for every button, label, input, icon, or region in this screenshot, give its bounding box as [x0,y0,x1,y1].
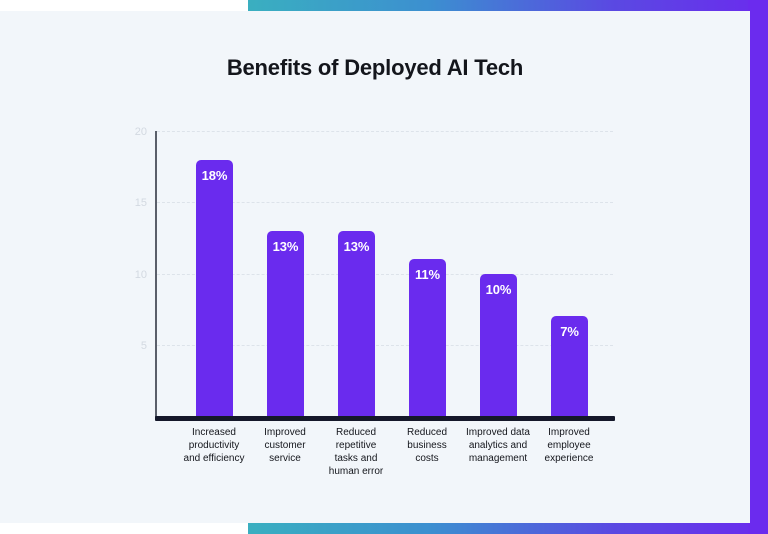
category-label-line: Increased [175,426,253,439]
chart-card: Benefits of Deployed AI Tech 2015105 18%… [0,11,750,523]
category-label-line: Improved [530,426,608,439]
bottom-gradient-bar [248,522,768,534]
y-axis-tick-label: 20 [135,126,147,138]
y-axis-tick-label: 5 [141,340,147,352]
category-label: Reducedbusinesscosts [388,426,466,465]
category-label-line: service [246,452,324,465]
bar-value-label: 7% [551,324,588,339]
bar-value-label: 13% [338,239,375,254]
category-label: Reducedrepetitivetasks andhuman error [317,426,395,478]
category-label-line: business [388,439,466,452]
category-label-line: productivity [175,439,253,452]
screenshot-root: Benefits of Deployed AI Tech 2015105 18%… [0,0,768,534]
category-label-line: Improved [246,426,324,439]
category-label-line: Reduced [317,426,395,439]
right-accent-bar [748,0,768,534]
bar-value-label: 11% [409,267,446,282]
chart-title: Benefits of Deployed AI Tech [0,55,750,81]
bar-slot: 7% [534,131,605,416]
category-label-line: analytics and [459,439,537,452]
category-label-line: Reduced [388,426,466,439]
category-label: Increasedproductivityand efficiency [175,426,253,465]
bar[interactable]: 11% [409,259,446,416]
bar[interactable]: 13% [338,231,375,416]
y-axis-tick-label: 10 [135,269,147,281]
category-label-line: Improved data [459,426,537,439]
bar-slot: 13% [250,131,321,416]
bar-value-label: 13% [267,239,304,254]
bar[interactable]: 10% [480,274,517,417]
bar-value-label: 18% [196,168,233,183]
category-label: Improvedcustomerservice [246,426,324,465]
category-label-line: repetitive [317,439,395,452]
bar-value-label: 10% [480,282,517,297]
plot-area: 2015105 18%13%13%11%10%7% Increasedprodu… [155,131,615,421]
category-label-line: experience [530,452,608,465]
category-label-line: tasks and [317,452,395,465]
category-label: Improved dataanalytics andmanagement [459,426,537,465]
bar-slot: 10% [463,131,534,416]
category-label: Improvedemployeeexperience [530,426,608,465]
category-label-line: employee [530,439,608,452]
category-label-line: and efficiency [175,452,253,465]
bar-slot: 18% [179,131,250,416]
category-label-line: customer [246,439,324,452]
x-axis-line [155,416,615,421]
bar-slot: 11% [392,131,463,416]
bar-series: 18%13%13%11%10%7% [155,131,615,416]
bar[interactable]: 7% [551,316,588,416]
category-label-line: management [459,452,537,465]
category-label-line: costs [388,452,466,465]
y-axis-tick-label: 15 [135,197,147,209]
bar[interactable]: 18% [196,160,233,417]
bar-slot: 13% [321,131,392,416]
bar[interactable]: 13% [267,231,304,416]
category-label-line: human error [317,465,395,478]
